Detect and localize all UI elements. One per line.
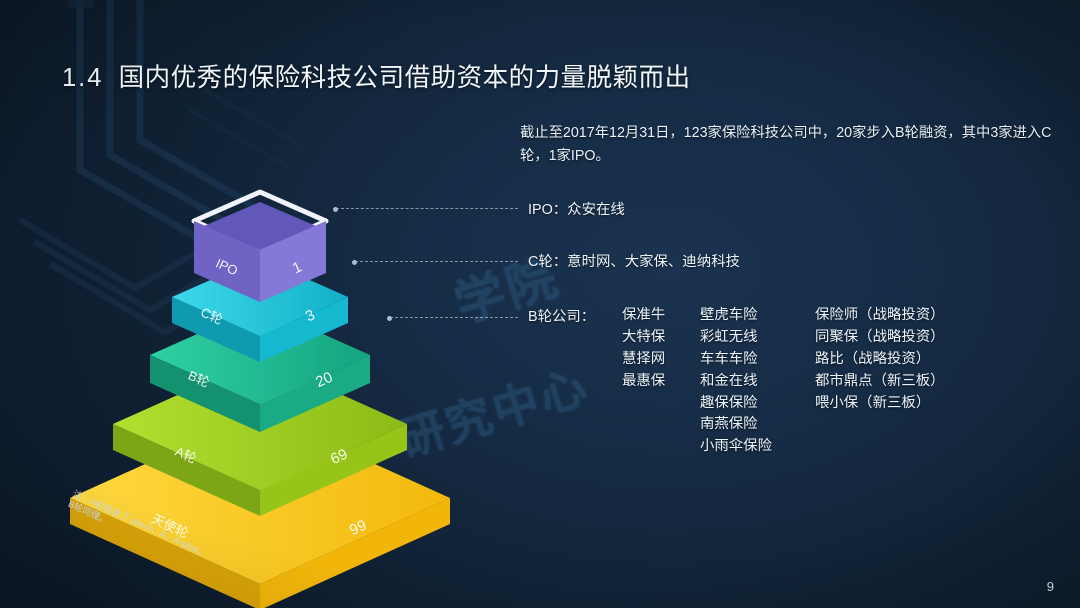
company-name: 趣保保险 [700, 393, 815, 415]
company-name: 路比（战略投资） [815, 349, 945, 371]
funding-stage-pyramid-chart: 天使轮 99 A轮 69 B轮 20 [60, 180, 480, 510]
company-name: 小雨伞保险 [700, 436, 815, 458]
callout-ipo: IPO：众安在线 [528, 198, 625, 219]
summary-paragraph: 截止至2017年12月31日，123家保险科技公司中，20家步入B轮融资，其中3… [520, 122, 1068, 168]
company-name: 最惠保 [622, 371, 700, 393]
company-name: 同聚保（战略投资） [815, 327, 945, 349]
callout-b-round: B轮公司： 保准牛大特保慧择网最惠保 壁虎车险彩虹无线车车车险和金在线趣保保险南… [528, 305, 945, 458]
company-name: 和金在线 [700, 371, 815, 393]
company-name: 慧择网 [622, 349, 700, 371]
company-name: 彩虹无线 [700, 327, 815, 349]
b-round-column-3: 保险师（战略投资）同聚保（战略投资）路比（战略投资）都市鼎点（新三板）喂小保（新… [815, 305, 945, 414]
company-name: 喂小保（新三板） [815, 393, 945, 415]
company-name: 车车车险 [700, 349, 815, 371]
company-name: 大特保 [622, 327, 700, 349]
b-round-column-1: 保准牛大特保慧择网最惠保 [622, 305, 700, 393]
page-number: 9 [1047, 579, 1054, 594]
page-title: 1.4 国内优秀的保险科技公司借助资本的力量脱颖而出 [62, 57, 691, 94]
title-number: 1.4 [62, 64, 103, 92]
b-round-column-2: 壁虎车险彩虹无线车车车险和金在线趣保保险南燕保险小雨伞保险 [700, 305, 815, 458]
company-name: 壁虎车险 [700, 305, 815, 327]
callout-c-round: C轮：意时网、大家保、迪纳科技 [528, 250, 740, 271]
title-text: 国内优秀的保险科技公司借助资本的力量脱颖而出 [119, 64, 691, 92]
slide-canvas: 学院 研究中心 1.4 国内优秀的保险科技公司借助资本的力量脱颖而出 截止至20… [0, 0, 1080, 608]
company-name: 南燕保险 [700, 414, 815, 436]
company-name: 保险师（战略投资） [815, 305, 945, 327]
company-name: 保准牛 [622, 305, 700, 327]
company-name: 都市鼎点（新三板） [815, 371, 945, 393]
b-round-label: B轮公司： [528, 305, 622, 326]
